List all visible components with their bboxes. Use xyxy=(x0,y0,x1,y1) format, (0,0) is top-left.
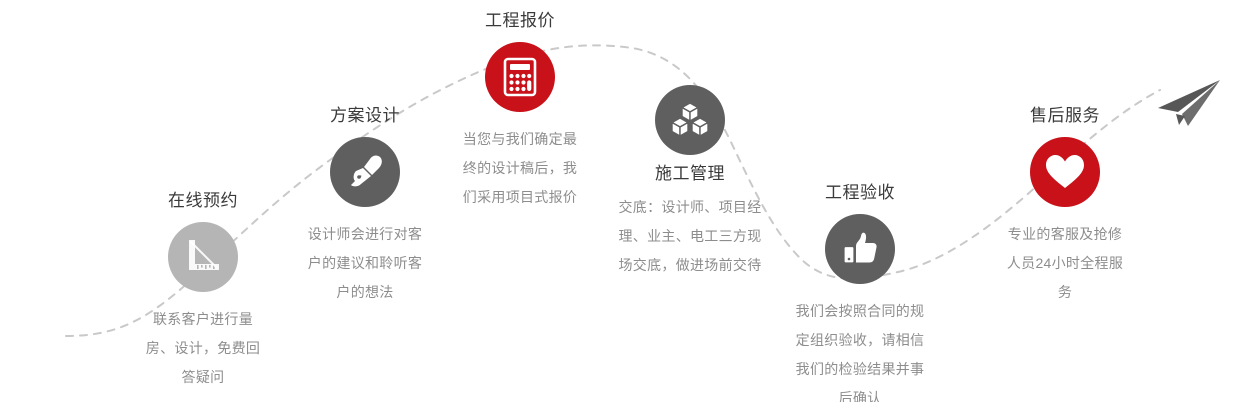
step-5-desc-line-2: 定组织验收，请相信 xyxy=(770,326,950,355)
fountain-pen-nib-icon[interactable] xyxy=(330,137,400,207)
heart-icon[interactable] xyxy=(1030,137,1100,207)
step-4-desc-line-3: 场交底，做进场前交待 xyxy=(600,251,780,280)
stacked-cubes-icon[interactable] xyxy=(655,85,725,155)
step-4-desc-line-1: 交底：设计师、项目经 xyxy=(600,193,780,222)
step-5-desc-line-1: 我们会按照合同的规 xyxy=(770,297,950,326)
step-5-icon-wrap[interactable] xyxy=(770,214,950,284)
step-2-title: 方案设计 xyxy=(275,105,455,127)
step-6[interactable]: 售后服务 专业的客服及抢修 人员24小时全程服 务 xyxy=(975,105,1155,307)
step-4-title: 施工管理 xyxy=(600,163,780,185)
step-5-desc-line-4: 后确认 xyxy=(770,384,950,402)
step-6-desc-line-1: 专业的客服及抢修 xyxy=(975,220,1155,249)
step-2-desc-line-2: 户的建议和聆听客 xyxy=(275,249,455,278)
step-3-desc-line-1: 当您与我们确定最 xyxy=(430,125,610,154)
step-4[interactable]: 施工管理 交底：设计师、项目经 理、业主、电工三方现 场交底，做进场前交待 xyxy=(600,85,780,280)
step-2-desc-line-3: 户的想法 xyxy=(275,278,455,307)
step-5-desc-line-3: 我们的检验结果并事 xyxy=(770,355,950,384)
step-6-icon-wrap[interactable] xyxy=(975,137,1155,207)
triangle-ruler-icon[interactable] xyxy=(168,222,238,292)
step-3-title: 工程报价 xyxy=(430,10,610,32)
step-6-title: 售后服务 xyxy=(975,105,1155,127)
step-2[interactable]: 方案设计 设计师会进行对客 户的建议和聆听客 户的想法 xyxy=(275,105,455,307)
step-1-icon-wrap[interactable] xyxy=(113,222,293,292)
step-3-desc-line-3: 们采用项目式报价 xyxy=(430,183,610,212)
step-1-title: 在线预约 xyxy=(113,190,293,212)
process-flow-graphic: 在线预约 联系客户进行量 房、设计，免费回 xyxy=(0,0,1245,402)
step-1-desc-line-3: 答疑问 xyxy=(113,363,293,392)
calculator-icon[interactable] xyxy=(485,42,555,112)
step-6-desc-line-2: 人员24小时全程服 xyxy=(975,249,1155,278)
step-4-description: 交底：设计师、项目经 理、业主、电工三方现 场交底，做进场前交待 xyxy=(600,193,780,280)
step-3-icon-wrap[interactable] xyxy=(430,42,610,112)
step-5-title: 工程验收 xyxy=(770,182,950,204)
step-3-description: 当您与我们确定最 终的设计稿后，我 们采用项目式报价 xyxy=(430,125,610,212)
step-2-icon-wrap[interactable] xyxy=(275,137,455,207)
step-5[interactable]: 工程验收 我们会按照合同的规 定组织验收，请相信 我们的检验结果并事 后确认 xyxy=(770,182,950,402)
step-2-description: 设计师会进行对客 户的建议和聆听客 户的想法 xyxy=(275,220,455,307)
step-3[interactable]: 工程报价 xyxy=(430,10,610,212)
step-1[interactable]: 在线预约 联系客户进行量 房、设计，免费回 xyxy=(113,190,293,392)
step-2-desc-line-1: 设计师会进行对客 xyxy=(275,220,455,249)
step-5-description: 我们会按照合同的规 定组织验收，请相信 我们的检验结果并事 后确认 xyxy=(770,297,950,402)
step-4-icon-wrap[interactable] xyxy=(600,85,780,155)
step-6-description: 专业的客服及抢修 人员24小时全程服 务 xyxy=(975,220,1155,307)
step-4-desc-line-2: 理、业主、电工三方现 xyxy=(600,222,780,251)
paper-plane-icon xyxy=(1152,78,1222,135)
step-6-desc-line-3: 务 xyxy=(975,278,1155,307)
step-3-desc-line-2: 终的设计稿后，我 xyxy=(430,154,610,183)
step-1-desc-line-1: 联系客户进行量 xyxy=(113,305,293,334)
step-1-description: 联系客户进行量 房、设计，免费回 答疑问 xyxy=(113,305,293,392)
step-1-desc-line-2: 房、设计，免费回 xyxy=(113,334,293,363)
thumbs-up-icon[interactable] xyxy=(825,214,895,284)
